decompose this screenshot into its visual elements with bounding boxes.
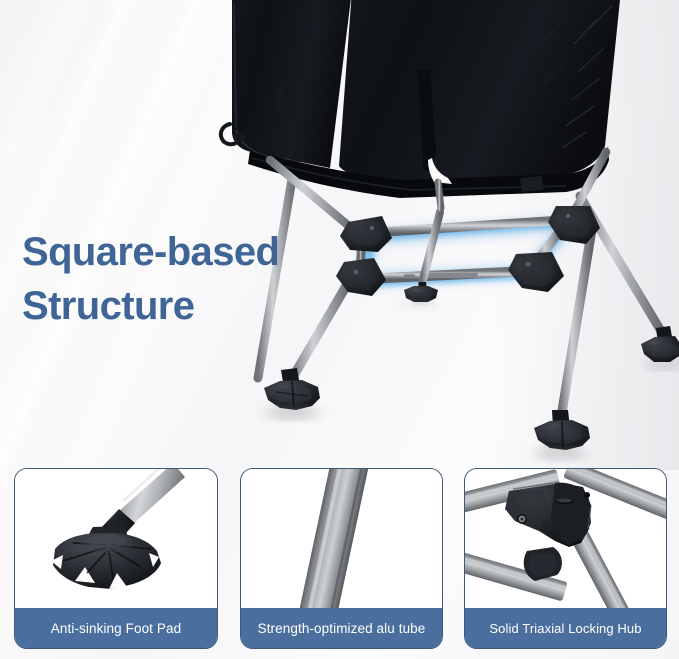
headline-line-2: Structure — [22, 280, 352, 334]
foot-pad — [404, 282, 438, 304]
feature-panel-alu-tube[interactable]: Strength-optimized alu tube — [240, 468, 443, 649]
infographic-page: Square-based Structure — [0, 0, 679, 659]
foot-pad-closeup-image — [15, 469, 217, 608]
headline-line-1: Square-based — [22, 230, 279, 274]
foot-pad — [641, 326, 679, 369]
hero-product-image: Square-based Structure — [0, 0, 679, 465]
panel-caption-foot-pad: Anti-sinking Foot Pad — [15, 608, 217, 648]
locking-hub — [508, 252, 564, 292]
page-title: Square-based Structure — [22, 226, 352, 333]
panel-caption-alu-tube: Strength-optimized alu tube — [241, 608, 442, 648]
chair-fabric-sling — [232, 0, 621, 198]
feature-panel-locking-hub[interactable]: Solid Triaxial Locking Hub — [464, 468, 667, 649]
feature-panel-foot-pad[interactable]: Anti-sinking Foot Pad — [14, 468, 218, 649]
feature-panel-row: Anti-sinking Foot Pad — [0, 468, 679, 653]
alu-tube-closeup-image — [241, 469, 442, 608]
locking-hub-closeup-image — [465, 469, 666, 608]
panel-caption-locking-hub: Solid Triaxial Locking Hub — [465, 608, 666, 648]
